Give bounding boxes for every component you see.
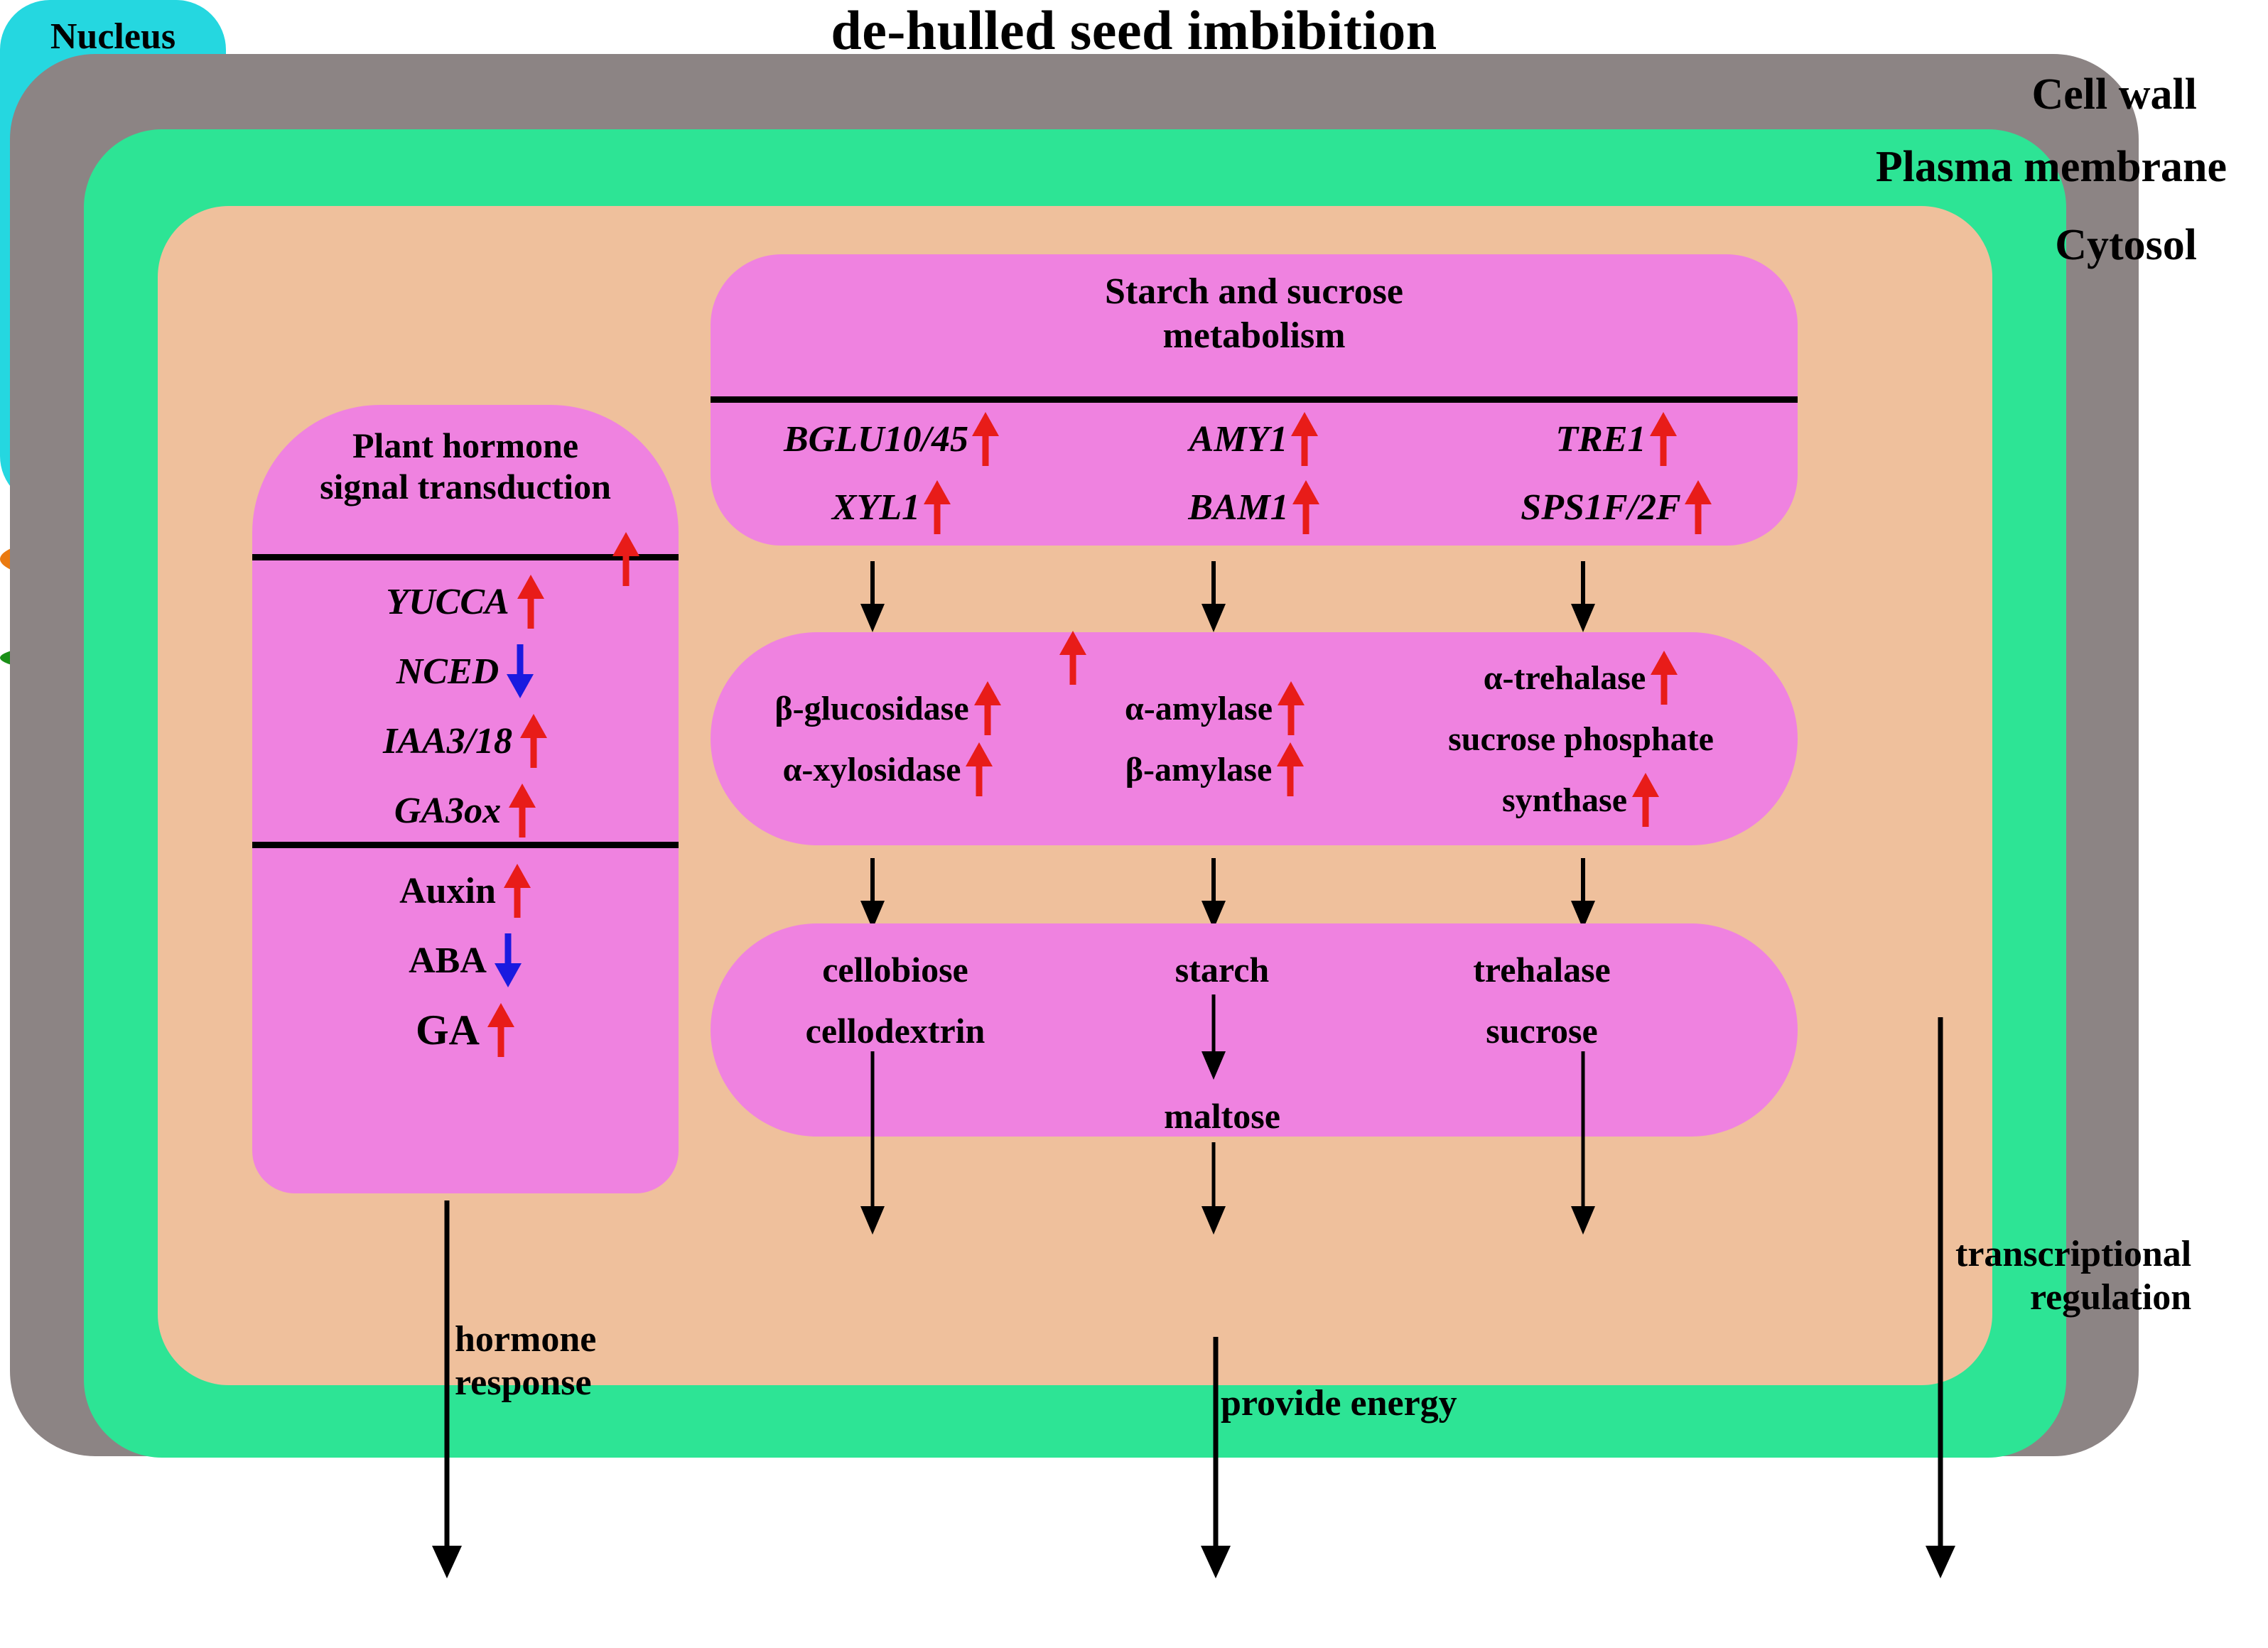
enzyme-row: α-xylosidase: [718, 739, 1059, 800]
up-arrow-icon: [1292, 480, 1320, 534]
enzyme-label: sucrose phosphate: [1448, 720, 1714, 759]
enzyme-box: β-glucosidase α-xylosidase α-amylase β-a…: [711, 632, 1798, 845]
gene-cell: BAM1: [1073, 480, 1435, 534]
hormone-label: GA: [416, 1006, 480, 1055]
up-arrow-icon: [923, 480, 951, 534]
plant-hormone-panel: Plant hormone signal transduction YUCCA …: [252, 405, 679, 1193]
up-arrow-icon: [965, 742, 993, 796]
up-arrow-icon: [1631, 773, 1660, 827]
hormone-response-line1: hormone: [455, 1318, 596, 1361]
enzyme-row: β-glucosidase: [718, 678, 1059, 739]
enzyme-row: α-trehalase: [1371, 647, 1791, 708]
gene-label: YUCCA: [386, 581, 509, 623]
starch-sucrose-metabolism-box: Starch and sucrose metabolism BGLU10/45 …: [711, 254, 1798, 546]
enzyme-row: synthase: [1371, 769, 1791, 830]
starch-box-title: Starch and sucrose metabolism: [711, 254, 1798, 359]
up-arrow-icon: [1059, 631, 1087, 685]
pathway-diagram: de-hulled seed imbibition Cell wall Plas…: [0, 0, 2268, 1648]
enzyme-row: β-amylase: [1066, 739, 1364, 800]
hormone-divider-bottom: [252, 842, 679, 848]
product-label: cellobiose: [822, 939, 968, 1000]
enzyme-label: β-amylase: [1125, 750, 1273, 789]
up-arrow-icon: [517, 575, 545, 629]
hormone-gene-row: GA3ox: [252, 776, 679, 845]
arrow-amy-to-amylase: [1201, 561, 1226, 632]
hormone-label: ABA: [409, 940, 487, 982]
gene-cell: TRE1: [1435, 412, 1798, 466]
cytosol-label: Cytosol: [2055, 220, 2197, 271]
up-arrow-icon: [973, 681, 1002, 735]
gene-cell: SPS1F/2F: [1435, 480, 1798, 534]
hormone-gene-row: NCED: [252, 636, 679, 706]
enzyme-column-2: α-amylase β-amylase: [1066, 632, 1364, 845]
down-arrow-icon: [494, 933, 522, 987]
up-arrow-icon: [1684, 480, 1712, 534]
enzyme-label: β-glucosidase: [774, 689, 968, 728]
enzyme-label: α-amylase: [1125, 689, 1273, 728]
hormone-gene-row: IAA3/18: [252, 706, 679, 776]
starch-gene-row: XYL1 BAM1 SPS1F/2F: [711, 473, 1798, 541]
transcriptional-line1: transcriptional: [1955, 1232, 2191, 1276]
enzyme-column-1: β-glucosidase α-xylosidase: [718, 632, 1059, 845]
arrow-provide-energy: [1201, 1337, 1231, 1577]
arrow-amylase-to-starch: [1201, 858, 1226, 929]
starch-gene-row: BGLU10/45 AMY1 TRE1: [711, 405, 1798, 473]
arrow-tre-to-trehalase: [1570, 561, 1596, 632]
arrow-maltose-to-glucose: [1201, 1142, 1226, 1236]
cell-wall-label: Cell wall: [2032, 70, 2197, 120]
hormone-level-row: Auxin: [252, 856, 679, 926]
hormone-response-line2: response: [455, 1361, 596, 1404]
gene-cell: AMY1: [1073, 412, 1435, 466]
up-arrow-icon: [1276, 742, 1305, 796]
provide-energy-label: provide energy: [1221, 1382, 1457, 1425]
arrow-bglu-to-glucosidase: [860, 561, 885, 632]
gene-label: BAM1: [1188, 487, 1289, 528]
enzyme-row: α-amylase: [1066, 678, 1364, 739]
up-arrow-icon: [1650, 651, 1678, 705]
product-label: trehalase: [1473, 939, 1610, 1000]
hormone-title-line2: signal transduction: [252, 466, 679, 507]
arrow-sucrose-to-glucose: [1570, 1051, 1596, 1236]
gene-label: NCED: [396, 651, 499, 693]
arrow-cellobiose-to-glucose: [860, 1051, 885, 1236]
enzyme-label: α-xylosidase: [783, 750, 961, 789]
starch-gene-grid: BGLU10/45 AMY1 TRE1 XYL1 BAM1: [711, 405, 1798, 541]
up-arrow-icon: [503, 864, 531, 918]
up-arrow-icon: [1649, 412, 1678, 466]
hormone-response-label: hormone response: [455, 1318, 596, 1405]
gene-label: TRE1: [1555, 418, 1646, 460]
plant-hormone-panel-title: Plant hormone signal transduction: [252, 405, 679, 507]
arrow-transcriptional-regulation: [1926, 1017, 1955, 1577]
gene-label: AMY1: [1189, 418, 1288, 460]
gene-label: GA3ox: [394, 790, 501, 832]
up-arrow-icon: [519, 714, 548, 768]
hormone-level-row: ABA: [252, 926, 679, 995]
arrow-synthase-to-sucrose: [1570, 858, 1596, 929]
product-label: cellodextrin: [806, 1000, 985, 1061]
gene-label: BGLU10/45: [784, 418, 968, 460]
starch-divider: [711, 396, 1798, 403]
plasma-membrane-label: Plasma membrane: [1876, 142, 2227, 193]
up-arrow-icon: [487, 1003, 515, 1057]
arrow-starch-to-maltose: [1201, 994, 1226, 1080]
hormone-gene-list: YUCCA NCED IAA3/18 GA3ox: [252, 567, 679, 845]
hormone-title-line1: Plant hormone: [252, 425, 679, 466]
down-arrow-icon: [506, 644, 534, 698]
product-label: starch: [1175, 939, 1269, 1000]
gene-cell: XYL1: [711, 480, 1073, 534]
arrow-glucosidase-to-cellobiose: [860, 858, 885, 929]
up-arrow-icon: [1277, 681, 1305, 735]
transcriptional-line2: regulation: [1955, 1276, 2191, 1319]
up-arrow-icon: [971, 412, 1000, 466]
hormone-level-list: Auxin ABA GA: [252, 856, 679, 1065]
page-title: de-hulled seed imbibition: [0, 0, 2268, 63]
enzyme-label: α-trehalase: [1484, 658, 1646, 698]
starch-title-line1: Starch and sucrose: [711, 270, 1798, 314]
up-arrow-icon: [508, 784, 536, 837]
product-label: maltose: [1164, 1085, 1280, 1146]
hormone-label: Auxin: [399, 870, 496, 912]
product-column-1: cellobiose cellodextrin: [732, 923, 1059, 1061]
up-arrow-icon: [612, 532, 640, 586]
gene-label: XYL1: [832, 487, 920, 528]
gene-label: IAA3/18: [383, 720, 512, 762]
hormone-level-row: GA: [252, 995, 679, 1065]
enzyme-row: sucrose phosphate: [1371, 708, 1791, 769]
product-column-3: trehalase sucrose: [1378, 923, 1705, 1061]
transcriptional-regulation-label: transcriptional regulation: [1955, 1232, 2191, 1320]
gene-label: SPS1F/2F: [1521, 487, 1680, 528]
enzyme-label: synthase: [1502, 781, 1627, 820]
starch-title-line2: metabolism: [711, 314, 1798, 358]
gene-cell: BGLU10/45: [711, 412, 1073, 466]
up-arrow-icon: [1290, 412, 1319, 466]
enzyme-column-3: α-trehalase sucrose phosphate synthase: [1371, 632, 1791, 845]
